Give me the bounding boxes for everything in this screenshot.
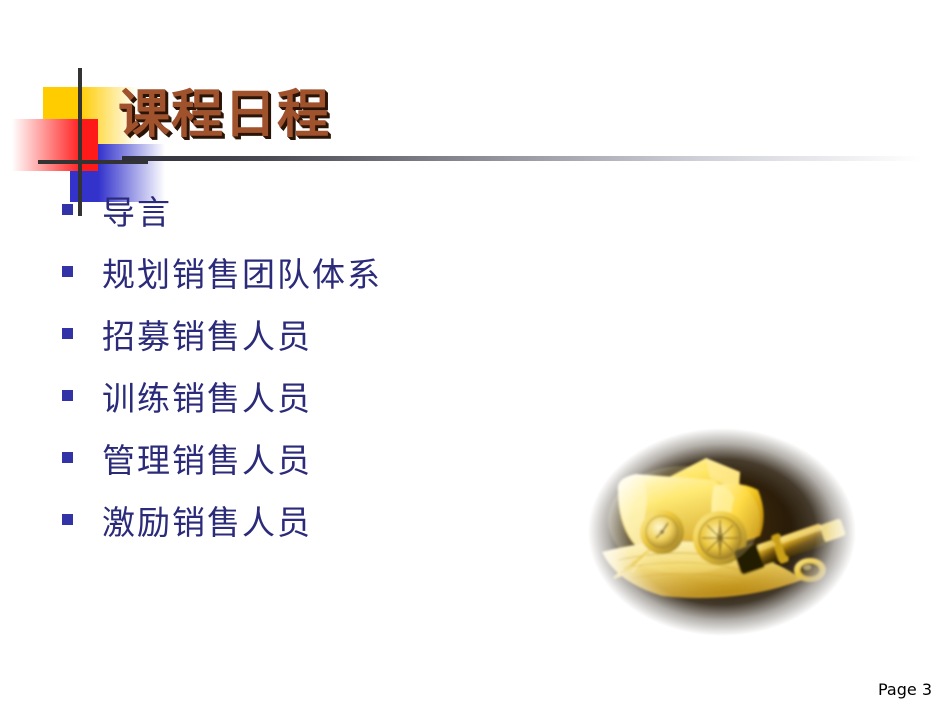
title-divider-rule (122, 156, 922, 161)
photo-content (588, 428, 856, 636)
list-item: 招募销售人员 (62, 320, 622, 382)
list-item: 导言 (62, 196, 622, 258)
list-item-label: 导言 (102, 196, 172, 229)
bullet-square-icon (62, 452, 73, 463)
bullet-square-icon (62, 514, 73, 525)
list-item-label: 招募销售人员 (102, 320, 312, 353)
list-item-label: 管理销售人员 (102, 444, 312, 477)
slide-canvas: 课程日程 导言 规划销售团队体系 招募销售人员 训练销售人员 管理销售人员 激励… (0, 0, 950, 713)
list-item: 规划销售团队体系 (62, 258, 622, 320)
list-item: 训练销售人员 (62, 382, 622, 444)
bullet-square-icon (62, 266, 73, 277)
bullet-square-icon (62, 390, 73, 401)
list-item-label: 激励销售人员 (102, 506, 312, 539)
decorative-photo (588, 428, 856, 636)
agenda-bullet-list: 导言 规划销售团队体系 招募销售人员 训练销售人员 管理销售人员 激励销售人员 (62, 196, 622, 568)
list-item-label: 训练销售人员 (102, 382, 312, 415)
bullet-square-icon (62, 204, 73, 215)
page-number: Page 3 (878, 680, 932, 699)
list-item-label: 规划销售团队体系 (102, 258, 382, 291)
slide-title: 课程日程 (118, 88, 330, 143)
bullet-square-icon (62, 328, 73, 339)
antique-instruments-illustration (588, 428, 856, 636)
list-item: 管理销售人员 (62, 444, 622, 506)
decoration-vertical-line (78, 68, 82, 216)
list-item: 激励销售人员 (62, 506, 622, 568)
